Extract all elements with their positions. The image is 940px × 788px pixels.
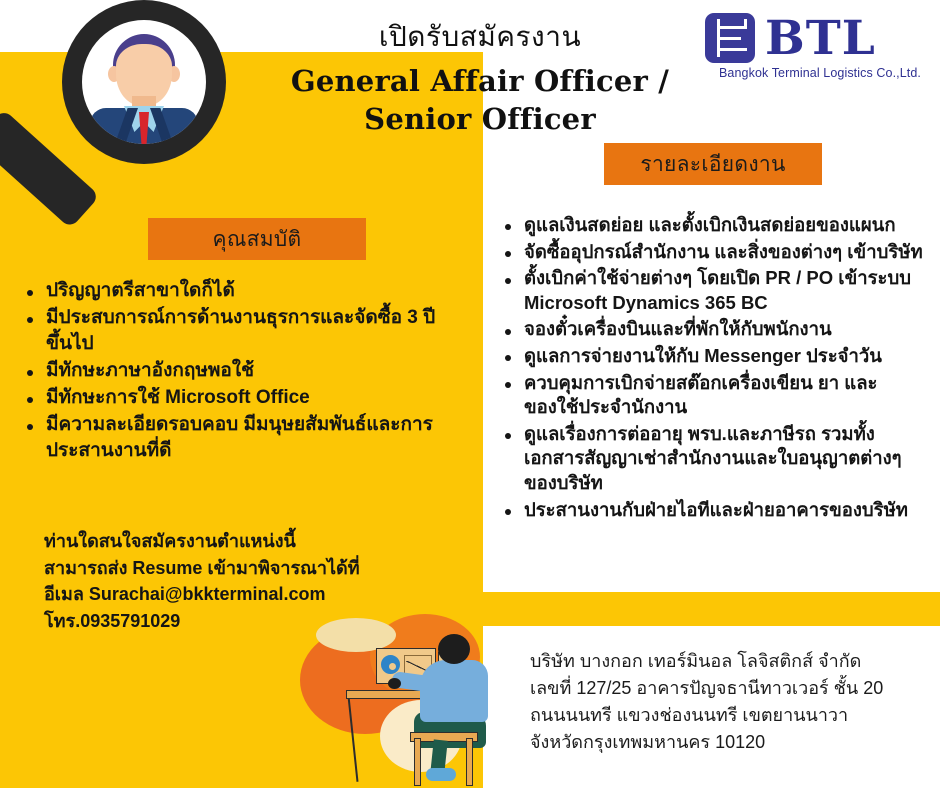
contact-line-1: ท่านใดสนใจสมัครงานตำแหน่งนี้ xyxy=(44,528,464,555)
company-address: บริษัท บางกอก เทอร์มินอล โลจิสติกส์ จำกั… xyxy=(530,648,930,756)
magnifier-with-businessman-icon xyxy=(0,0,240,242)
list-item: จัดซื้ออุปกรณ์สำนักงาน และสิ่งของต่างๆ เ… xyxy=(500,240,928,265)
magnifier-ring xyxy=(62,0,226,164)
address-line-3: ถนนนนทรี แขวงช่องนนทรี เขตยานนาวา xyxy=(530,702,930,729)
page-title-line2: Senior Officer xyxy=(250,100,710,138)
person-at-desk-illustration xyxy=(288,612,503,788)
list-item: มีทักษะภาษาอังกฤษพอใช้ xyxy=(22,358,452,383)
list-item: ดูแลเงินสดย่อย และตั้งเบิกเงินสดย่อยของแ… xyxy=(500,213,928,238)
page-title: General Affair Officer / Senior Officer xyxy=(250,62,710,139)
duties-list: ดูแลเงินสดย่อย และตั้งเบิกเงินสดย่อยของแ… xyxy=(500,213,928,524)
pie-chart-icon xyxy=(381,655,400,674)
qualifications-list: ปริญญาตรีสาขาใดก็ได้ มีประสบการณ์การด้าน… xyxy=(22,278,452,465)
chair-leg-front xyxy=(414,738,421,786)
logo-tagline: Bangkok Terminal Logistics Co.,Ltd. xyxy=(707,66,933,80)
page-title-line1: General Affair Officer / xyxy=(250,62,710,100)
list-item: ดูแลการจ่ายงานให้กับ Messenger ประจำวัน xyxy=(500,344,928,369)
contact-line-2: สามารถส่ง Resume เข้ามาพิจารณาได้ที่ xyxy=(44,555,464,582)
list-item: ควบคุมการเบิกจ่ายสต๊อกเครื่องเขียน ยา แล… xyxy=(500,371,928,420)
chair-leg-back xyxy=(466,738,473,786)
cream-blob-top xyxy=(316,618,396,652)
thai-kicker: เปิดรับสมัครงาน xyxy=(300,22,660,53)
logo-wordmark: BTL xyxy=(765,15,876,62)
list-item: มีทักษะการใช้ Microsoft Office xyxy=(22,385,452,410)
address-line-2: เลขที่ 127/25 อาคารปัญจธานีทาวเวอร์ ชั้น… xyxy=(530,675,930,702)
logo-row: BTL xyxy=(705,12,876,64)
address-line-4: จังหวัดกรุงเทพมหานคร 10120 xyxy=(530,729,930,756)
qualifications-badge: คุณสมบัติ xyxy=(148,218,366,260)
person-hand xyxy=(388,678,401,689)
list-item: มีประสบการณ์การด้านงานธุรการและจัดซื้อ 3… xyxy=(22,305,452,356)
list-item: ประสานงานกับฝ่ายไอทีและฝ่ายอาคารของบริษั… xyxy=(500,498,928,523)
list-item: ตั้งเบิกค่าใช้จ่ายต่างๆ โดยเปิด PR / PO … xyxy=(500,266,928,315)
person-shoe xyxy=(426,768,456,781)
duties-badge: รายละเอียดงาน xyxy=(604,143,822,185)
list-item: จองตั๋วเครื่องบินและที่พักให้กับพนักงาน xyxy=(500,317,928,342)
job-poster: เปิดรับสมัครงาน General Affair Officer /… xyxy=(0,0,940,788)
contact-email[interactable]: อีเมล Surachai@bkkterminal.com xyxy=(44,581,464,608)
list-item: ปริญญาตรีสาขาใดก็ได้ xyxy=(22,278,452,303)
list-item: มีความละเอียดรอบคอบ มีมนุษยสัมพันธ์และกา… xyxy=(22,412,452,463)
person-head xyxy=(438,634,470,664)
btl-logo-mark-icon xyxy=(705,13,755,63)
btl-logo: BTL Bangkok Terminal Logistics Co.,Ltd. xyxy=(705,12,933,84)
address-line-1: บริษัท บางกอก เทอร์มินอล โลจิสติกส์ จำกั… xyxy=(530,648,930,675)
list-item: ดูแลเรื่องการต่ออายุ พรบ.และภาษีรถ รวมทั… xyxy=(500,422,928,496)
magnifier-lens xyxy=(82,20,206,144)
